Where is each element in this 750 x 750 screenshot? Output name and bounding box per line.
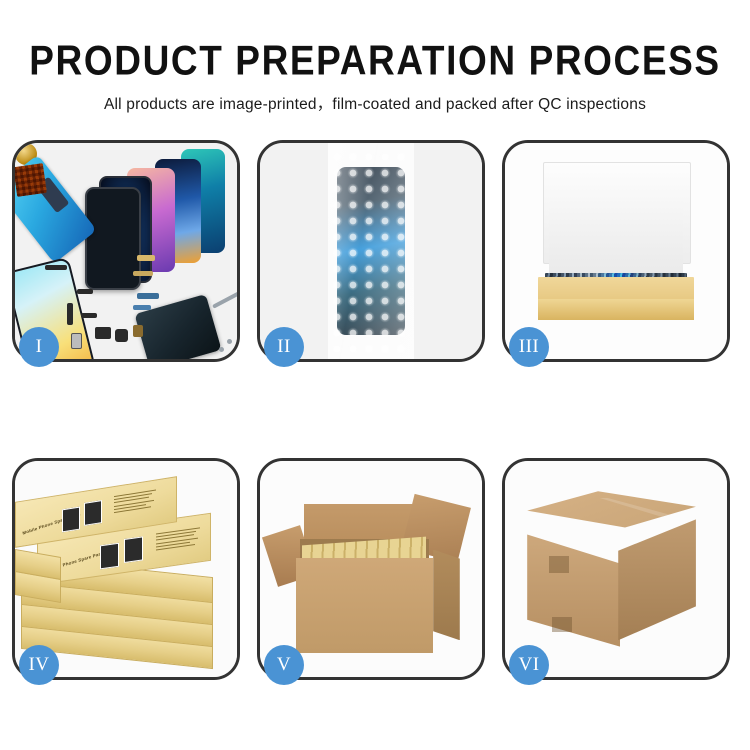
sealed-carton-right-icon — [618, 519, 696, 640]
camera-module-icon — [115, 329, 128, 342]
carton-handle-tab-bottom — [552, 617, 572, 632]
header: PRODUCT PREPARATION PROCESS All products… — [0, 0, 750, 114]
step-panel-5: V — [257, 458, 485, 680]
screw-icon-1 — [227, 339, 232, 344]
step-image-6 — [505, 461, 727, 677]
box-inner-foam-icon — [549, 199, 682, 281]
flex-cable-icon-6 — [81, 313, 97, 318]
flex-cable-icon-1 — [45, 265, 67, 270]
battery-connector-icon — [133, 325, 143, 337]
step-image-2 — [260, 143, 482, 359]
phone-parts-illustration — [15, 143, 237, 359]
box-artwork-screen-2a — [100, 543, 119, 570]
steps-grid: I II III — [12, 140, 738, 680]
step-image-1 — [15, 143, 237, 359]
box-spec-lines-2 — [156, 527, 200, 552]
product-preparation-infographic: PRODUCT PREPARATION PROCESS All products… — [0, 0, 750, 750]
page-title: PRODUCT PREPARATION PROCESS — [0, 40, 750, 81]
box-front-panel-icon — [538, 299, 693, 321]
step-image-4: Mobile Phone Spare Parts Mobile Phone — [15, 461, 237, 677]
connector-icon-1 — [137, 293, 159, 299]
retail-box-stack: Mobile Phone Spare Parts Mobile Phone — [15, 461, 237, 677]
sim-tray-icon — [71, 333, 82, 349]
step-image-3 — [505, 143, 727, 359]
plastic-sheen-icon — [328, 143, 414, 359]
screwdriver-icon — [212, 289, 237, 308]
flex-cable-icon-2 — [137, 255, 155, 261]
box-artwork-screen-2b — [124, 536, 143, 563]
step-badge-1: I — [19, 327, 59, 367]
step-panel-6: VI — [502, 458, 730, 680]
step-panel-1: I — [12, 140, 240, 362]
ic-chip-icon — [15, 163, 47, 197]
flex-cable-icon-3 — [133, 271, 153, 276]
step-badge-6: VI — [509, 645, 549, 685]
step-badge-3: III — [509, 327, 549, 367]
step-panel-3: III — [502, 140, 730, 362]
step-badge-2: II — [264, 327, 304, 367]
step-panel-4: Mobile Phone Spare Parts Mobile Phone — [12, 458, 240, 680]
carton-body-icon — [296, 558, 434, 653]
sealed-carton-front-icon — [527, 534, 620, 646]
screw-icon-2 — [219, 347, 224, 352]
flex-cable-icon-4 — [77, 289, 93, 294]
flex-cable-icon-5 — [67, 303, 73, 325]
bubble-wrap-bag — [328, 143, 414, 359]
connector-icon-2 — [133, 305, 151, 310]
step-image-5 — [260, 461, 482, 677]
box-artwork-screen-1b — [84, 500, 102, 526]
step-badge-4: IV — [19, 645, 59, 685]
page-subtitle: All products are image-printed，film-coat… — [0, 92, 750, 114]
carton-handle-tab-top — [549, 556, 569, 573]
step-badge-5: V — [264, 645, 304, 685]
box-artwork-screen-1a — [62, 507, 80, 533]
step-panel-2: II — [257, 140, 485, 362]
speaker-icon — [95, 327, 111, 339]
box-spec-lines-1 — [114, 489, 156, 515]
carton-side-icon — [433, 550, 460, 641]
phone-chassis-icon — [134, 294, 221, 359]
